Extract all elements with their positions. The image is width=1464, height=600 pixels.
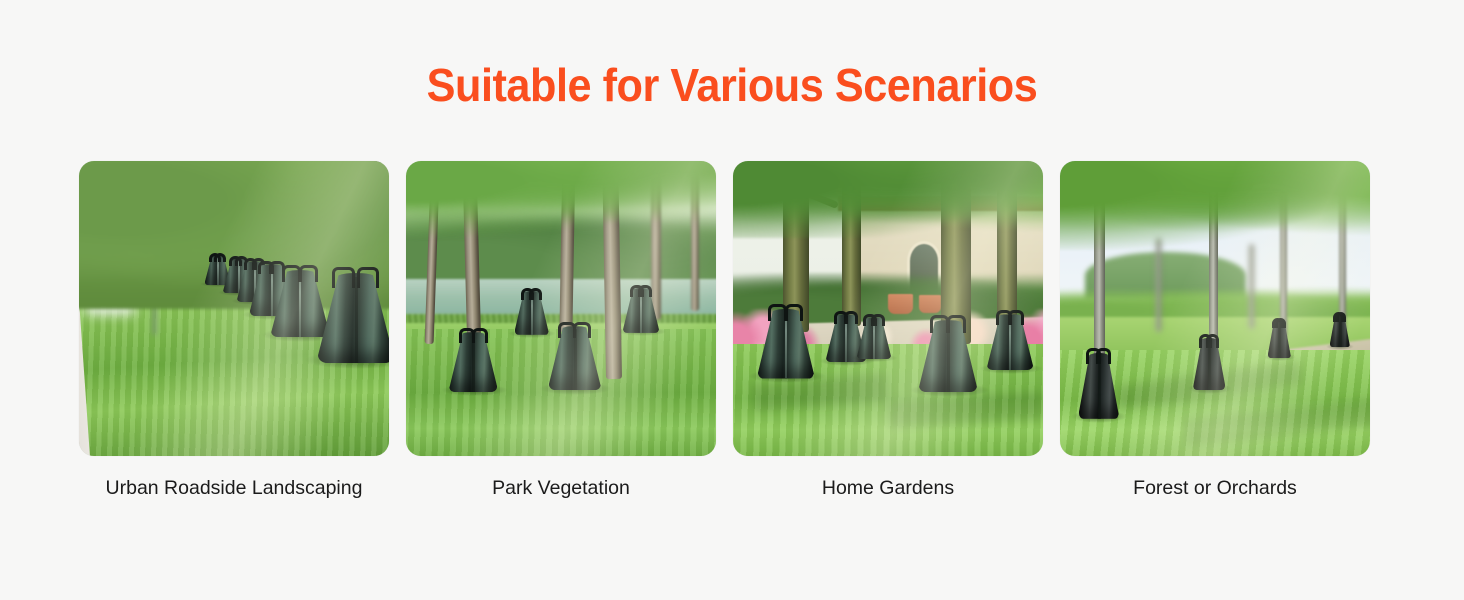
scenario-card-park-vegetation[interactable]: Park Vegetation (406, 161, 716, 500)
tree-trunk (1156, 238, 1161, 332)
scenario-caption: Forest or Orchards (1060, 477, 1370, 500)
scenario-photo-forest-orchards (1060, 161, 1370, 456)
tree-watering-bag (758, 309, 814, 379)
scenario-card-forest-orchards[interactable]: Forest or Orchards (1060, 161, 1370, 500)
tree-watering-bag (449, 332, 497, 392)
scenario-caption: Urban Roadside Landscaping (79, 477, 389, 500)
tree-canopy (406, 161, 716, 238)
tree-watering-bag (1330, 314, 1350, 347)
tree-watering-bag (515, 291, 549, 335)
scenario-caption: Park Vegetation (406, 477, 716, 500)
tree-canopy (733, 161, 1043, 238)
tree-watering-bag (623, 288, 659, 333)
scenario-photo-urban-roadside (79, 161, 389, 456)
tree-watering-bag (318, 273, 389, 363)
scenario-card-home-gardens[interactable]: Home Gardens (733, 161, 1043, 500)
tree-watering-bag (857, 317, 891, 359)
page-title: Suitable for Various Scenarios (44, 57, 1420, 113)
tree-watering-bag (919, 320, 977, 392)
tree-watering-bag (1193, 338, 1225, 390)
marketing-banner: Suitable for Various Scenarios (0, 0, 1464, 600)
scenario-card-urban-roadside[interactable]: Urban Roadside Landscaping (79, 161, 389, 500)
tree-watering-bag (987, 314, 1033, 370)
tree-canopy (1060, 161, 1370, 250)
tree-watering-bag (1079, 353, 1119, 419)
tree-watering-bag (549, 326, 601, 390)
tree-watering-bag (1268, 320, 1291, 358)
scenario-caption: Home Gardens (733, 477, 1043, 500)
scenario-gallery: Urban Roadside Landscaping (79, 161, 1387, 500)
scenario-photo-home-gardens (733, 161, 1043, 456)
tree-trunk (1249, 244, 1254, 330)
scenario-photo-park-vegetation (406, 161, 716, 456)
